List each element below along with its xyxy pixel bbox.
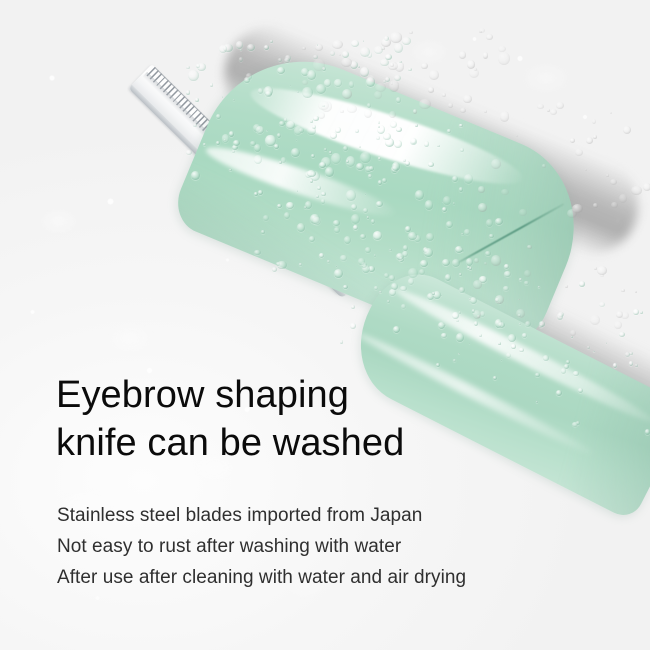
list-item: Not easy to rust after washing with wate… [57,531,466,562]
list-item: After use after cleaning with water and … [57,562,466,593]
product-marketing-image: Eyebrow shaping knife can be washed Stai… [0,0,650,650]
page-title: Eyebrow shaping knife can be washed [56,371,404,467]
list-item: Stainless steel blades imported from Jap… [57,500,466,531]
headline-line-2: knife can be washed [56,422,404,464]
feature-list: Stainless steel blades imported from Jap… [57,500,466,593]
headline-line-1: Eyebrow shaping [56,374,349,416]
